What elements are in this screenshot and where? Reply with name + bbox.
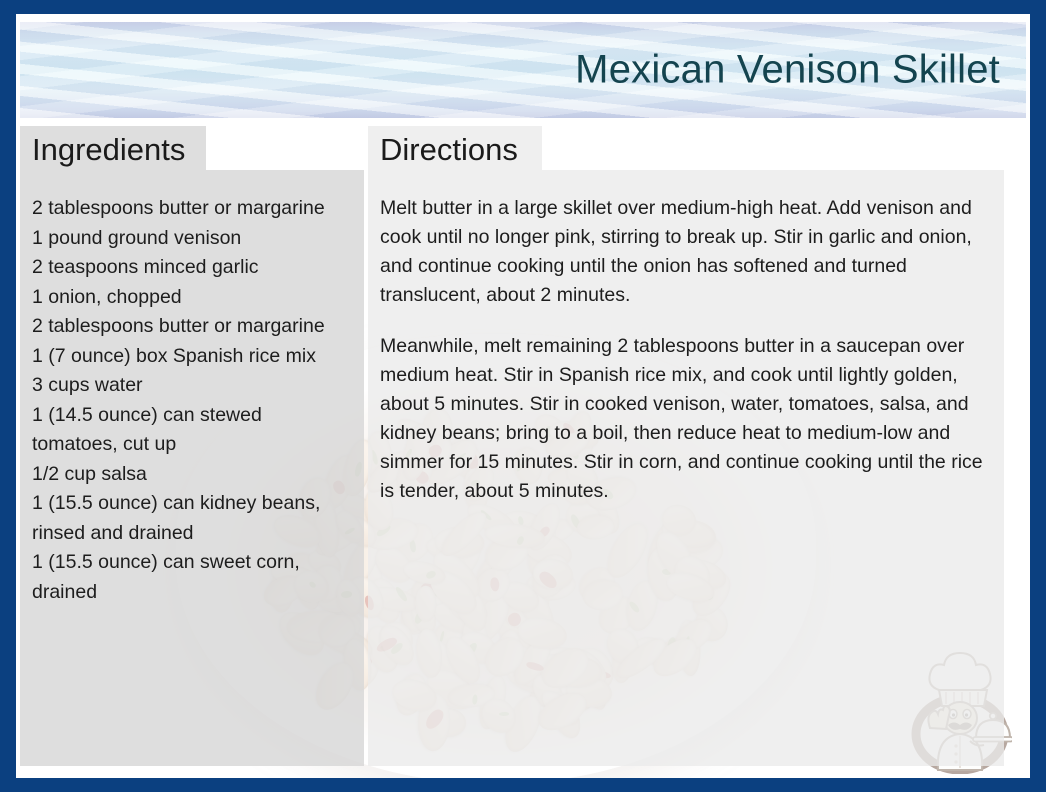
ingredients-heading-area: Ingredients [20,126,364,176]
directions-body: Melt butter in a large skillet over medi… [368,176,1004,506]
ingredient-item: 2 tablespoons butter or margarine [32,194,350,224]
ingredient-item: 1 (15.5 ounce) can kidney beans, rinsed … [32,489,350,548]
directions-heading-area: Directions [368,126,1004,176]
ingredient-item: 3 cups water [32,371,350,401]
direction-paragraph: Melt butter in a large skillet over medi… [380,194,990,310]
ingredients-panel: Ingredients 2 tablespoons butter or marg… [20,126,364,766]
ingredients-heading-mask [206,126,364,170]
recipe-card: Mexican Venison Skillet [0,0,1046,792]
directions-heading-mask [542,126,1004,170]
ingredient-item: 2 tablespoons butter or margarine [32,312,350,342]
content-panels: Ingredients 2 tablespoons butter or marg… [20,126,1026,778]
ingredient-item: 1 (15.5 ounce) can sweet corn, drained [32,548,350,607]
title-banner: Mexican Venison Skillet [20,22,1026,118]
direction-paragraph: Meanwhile, melt remaining 2 tablespoons … [380,332,990,506]
ingredient-item: 2 teaspoons minced garlic [32,253,350,283]
directions-heading: Directions [380,132,518,168]
ingredient-item: 1/2 cup salsa [32,460,350,490]
page-title: Mexican Venison Skillet [575,48,1000,93]
ingredient-item: 1 onion, chopped [32,283,350,313]
ingredient-item: 1 (14.5 ounce) can stewed tomatoes, cut … [32,401,350,460]
ingredient-item: 1 pound ground venison [32,224,350,254]
ingredients-body: 2 tablespoons butter or margarine1 pound… [20,176,364,607]
ingredients-heading: Ingredients [32,132,185,168]
ingredient-item: 1 (7 ounce) box Spanish rice mix [32,342,350,372]
ingredients-list: 2 tablespoons butter or margarine1 pound… [32,194,350,607]
directions-panel: Directions Melt butter in a large skille… [368,126,1004,766]
card-inner-surface: Mexican Venison Skillet [16,14,1030,778]
